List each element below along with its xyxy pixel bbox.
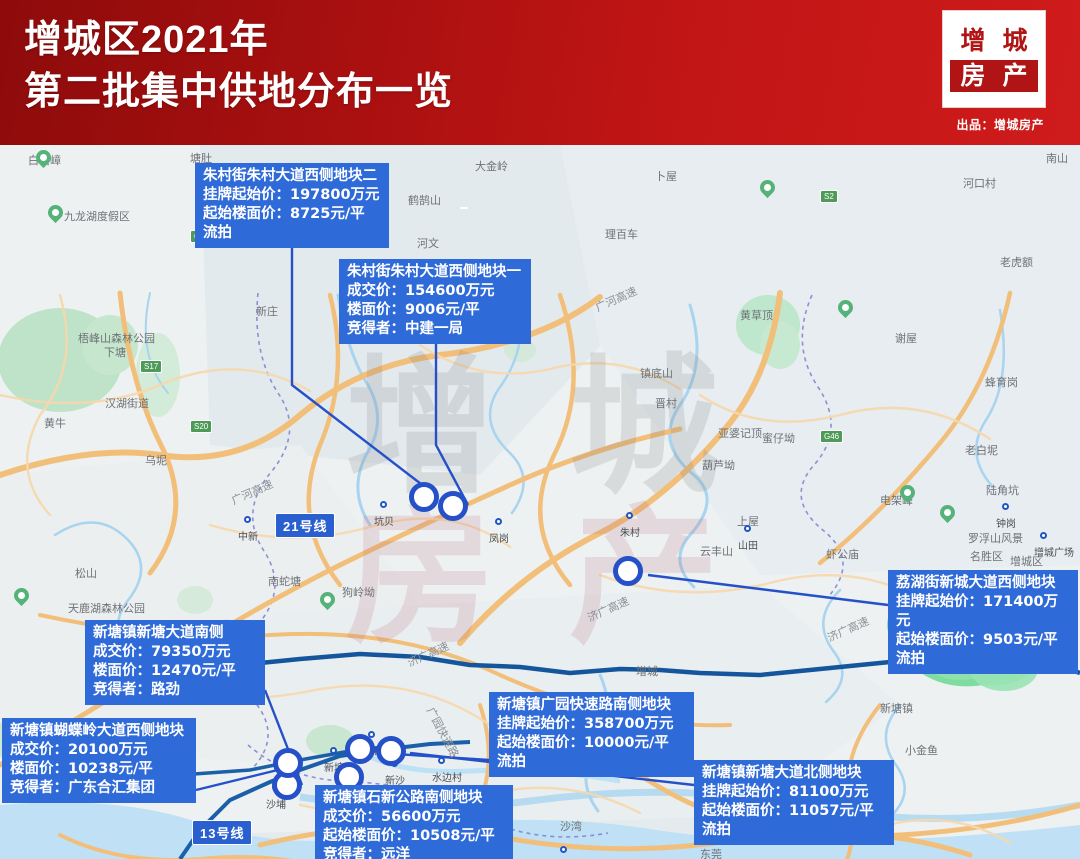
map-place-label: 广河高速 — [593, 283, 640, 316]
metro-station-label: 中新 — [238, 528, 258, 543]
highway-shield: S20 — [190, 420, 212, 433]
plot-detail-line: 流拍 — [702, 821, 886, 840]
plot-callout[interactable]: 新塘镇蝴蝶岭大道西侧地块成交价：20100万元楼面价：10238元/平竞得者：广… — [2, 718, 196, 803]
map-place-label: 松山 — [75, 565, 97, 581]
plot-detail-line: 流拍 — [896, 650, 1070, 669]
plot-title: 新塘镇新塘大道南侧 — [93, 624, 257, 643]
plot-detail-line: 流拍 — [497, 753, 686, 772]
map-place-label: 晋村 — [655, 395, 677, 411]
plot-callout[interactable]: 新塘镇广园快速路南侧地块挂牌起始价：358700万元起始楼面价：10000元/平… — [489, 692, 694, 777]
plot-detail-line: 成交价：20100万元 — [10, 741, 188, 760]
plot-title: 新塘镇广园快速路南侧地块 — [497, 696, 686, 715]
map-poi-pin — [11, 585, 32, 606]
map-place-label: 乌坭 — [145, 452, 167, 468]
highway-shield: G46 — [820, 430, 843, 443]
metro-line-badge: 21号线 — [275, 513, 335, 538]
plot-detail-line: 挂牌起始价：197800万元 — [203, 186, 381, 205]
plot-marker[interactable] — [613, 556, 643, 586]
metro-station-dot — [330, 747, 337, 754]
plot-callout[interactable]: 朱村街朱村大道西侧地块二挂牌起始价：197800万元起始楼面价：8725元/平流… — [195, 163, 389, 248]
map-place-label: 卜屋 — [655, 168, 677, 184]
plot-title: 新塘镇新塘大道北侧地块 — [702, 764, 886, 783]
plot-marker[interactable] — [438, 491, 468, 521]
map-place-label: 汉湖街道 — [105, 395, 149, 411]
plot-detail-line: 起始楼面价：9503元/平 — [896, 631, 1070, 650]
map-place-label: 九龙湖度假区 — [64, 208, 130, 224]
plot-detail-line: 成交价：154600万元 — [347, 282, 523, 301]
map-place-label: 天鹿湖森林公园 — [68, 600, 145, 616]
metro-station-dot — [1040, 532, 1047, 539]
map-place-label: 名胜区 — [970, 548, 1003, 564]
map-place-label: 新塘镇 — [880, 700, 913, 716]
plot-marker[interactable] — [273, 748, 303, 778]
logo-line-1: 增 城 — [956, 26, 1033, 56]
map-place-label: 谢屋 — [895, 330, 917, 346]
metro-station-label: 钟岗 — [996, 515, 1016, 530]
plot-detail-line: 挂牌起始价：81100万元 — [702, 783, 886, 802]
map-place-label: 蜜仔坳 — [762, 430, 795, 446]
map-place-label: 广园快速路 — [423, 704, 463, 760]
map-place-label: 虾公庙 — [826, 546, 859, 562]
map-place-label: 济广高速 — [405, 638, 452, 671]
metro-station-dot — [1002, 503, 1009, 510]
metro-station-dot — [626, 512, 633, 519]
metro-station-label: 朱村 — [620, 524, 640, 539]
map-poi-pin — [937, 502, 958, 523]
plot-detail-line: 起始楼面价：11057元/平 — [702, 802, 886, 821]
metro-station-label: 增城广场 — [1034, 544, 1074, 559]
map-place-label: 陆角坑 — [986, 482, 1019, 498]
map-poi-pin — [835, 297, 856, 318]
map-place-label: 黄草顶 — [740, 307, 773, 323]
map-place-label: 济广高速 — [825, 613, 872, 646]
highway-shield: S17 — [140, 360, 162, 373]
map-annotation-layer: 白石嶂塘肚九龙湖度假区大金岭卜屋南山鹤鹄山河口村老虎额下塘汉湖街道黄牛新庄河文理… — [0, 145, 1080, 859]
plot-title: 新塘镇蝴蝶岭大道西侧地块 — [10, 722, 188, 741]
plot-detail-line: 成交价：56600万元 — [323, 808, 505, 827]
metro-station-dot — [744, 525, 751, 532]
plot-callout[interactable]: 新塘镇新塘大道北侧地块挂牌起始价：81100万元起始楼面价：11057元/平流拍 — [694, 760, 894, 845]
map-place-label: 南山 — [1046, 150, 1068, 166]
brand-logo: 增 城 房 产 — [942, 10, 1046, 108]
plot-detail-line: 竞得者：路劲 — [93, 681, 257, 700]
plot-marker[interactable] — [409, 482, 439, 512]
plot-marker[interactable] — [345, 734, 375, 764]
map-place-label: 鹤鹄山 — [408, 192, 441, 208]
map-poi-pin — [757, 177, 778, 198]
plot-callout[interactable]: 新塘镇石新公路南侧地块成交价：56600万元起始楼面价：10508元/平竞得者：… — [315, 785, 513, 859]
highway-shield: S2 — [820, 190, 838, 203]
metro-station-label: 山田 — [738, 537, 758, 552]
logo-line-2: 房 产 — [950, 60, 1039, 92]
plot-callout[interactable]: 荔湖街新城大道西侧地块挂牌起始价：171400万元起始楼面价：9503元/平流拍 — [888, 570, 1078, 674]
map-place-label: 梧峰山森林公园 — [78, 330, 155, 346]
map-place-label: 下塘 — [104, 344, 126, 360]
map-place-label: 小金鱼 — [905, 742, 938, 758]
plot-detail-line: 起始楼面价：8725元/平 — [203, 205, 381, 224]
plot-title: 新塘镇石新公路南侧地块 — [323, 789, 505, 808]
metro-station-dot — [244, 516, 251, 523]
plot-detail-line: 竞得者：广东合汇集团 — [10, 779, 188, 798]
map-place-label: 老白坭 — [965, 442, 998, 458]
map-place-label: 南蛇塘 — [268, 573, 301, 589]
plot-detail-line: 楼面价：10238元/平 — [10, 760, 188, 779]
logo-caption: 出品：增城房产 — [956, 116, 1044, 133]
map-poi-pin — [45, 202, 66, 223]
plot-title: 朱村街朱村大道西侧地块一 — [347, 263, 523, 282]
map-place-label: 沙湾 — [560, 818, 582, 834]
plot-callout[interactable]: 新塘镇新塘大道南侧成交价：79350万元楼面价：12470元/平竞得者：路劲 — [85, 620, 265, 705]
metro-station-label: 水边村 — [432, 769, 462, 784]
plot-detail-line: 流拍 — [203, 224, 381, 243]
map-poi-pin — [317, 589, 338, 610]
infographic-page: 增城区2021年 第二批集中供地分布一览 增 城 房 产 出品：增城房产 — [0, 0, 1080, 859]
map-place-label: 葫芦坳 — [702, 457, 735, 473]
plot-detail-line: 起始楼面价：10508元/平 — [323, 827, 505, 846]
map-place-label: 河口村 — [963, 175, 996, 191]
metro-line-badge: 13号线 — [192, 820, 252, 845]
map-place-label: 新庄 — [256, 303, 278, 319]
metro-station-label: 凤岗 — [489, 530, 509, 545]
map-place-label: 老虎额 — [1000, 254, 1033, 270]
plot-detail-line: 竞得者：远洋 — [323, 846, 505, 859]
plot-detail-line: 成交价：79350万元 — [93, 643, 257, 662]
metro-station-dot — [438, 757, 445, 764]
map-place-label: 云丰山 — [700, 543, 733, 559]
metro-station-label: 坑贝 — [374, 513, 394, 528]
metro-station-dot — [495, 518, 502, 525]
page-title: 增城区2021年 第二批集中供地分布一览 — [24, 14, 453, 118]
map-place-label: 广河高速 — [229, 476, 276, 509]
map-place-label: 济广高速 — [585, 593, 632, 626]
plot-title: 朱村街朱村大道西侧地块二 — [203, 167, 381, 186]
plot-title: 荔湖街新城大道西侧地块 — [896, 574, 1070, 593]
plot-detail-line: 楼面价：9006元/平 — [347, 301, 523, 320]
map-place-label: 罗浮山风景 — [968, 530, 1023, 546]
map-place-label: 蜂育岗 — [985, 374, 1018, 390]
map-place-label: 河文 — [417, 235, 439, 251]
metro-station-dot — [560, 846, 567, 853]
plot-marker[interactable] — [376, 736, 406, 766]
plot-detail-line: 楼面价：12470元/平 — [93, 662, 257, 681]
header-banner: 增城区2021年 第二批集中供地分布一览 增 城 房 产 出品：增城房产 — [0, 0, 1080, 145]
map-canvas[interactable]: 增 城 房 产 白石嶂塘肚九龙湖度假区大金岭卜屋南山鹤鹄山河口村老虎额下塘汉湖街… — [0, 145, 1080, 859]
map-place-label: 大金岭 — [475, 158, 508, 174]
map-place-label: 亚婆记顶 — [718, 425, 762, 441]
map-place-label: 黄牛 — [44, 415, 66, 431]
map-place-label: 狗岭坳 — [342, 584, 375, 600]
plot-detail-line: 挂牌起始价：171400万元 — [896, 593, 1070, 631]
plot-detail-line: 竞得者：中建一局 — [347, 320, 523, 339]
map-place-label: 东莞 — [700, 846, 722, 859]
map-place-label: 增城 — [636, 663, 658, 679]
metro-station-dot — [380, 501, 387, 508]
plot-callout[interactable]: 朱村街朱村大道西侧地块一成交价：154600万元楼面价：9006元/平竞得者：中… — [339, 259, 531, 344]
map-place-label: 理百车 — [605, 226, 638, 242]
highway-shield — [460, 207, 468, 209]
map-place-label: 镇底山 — [640, 365, 673, 381]
plot-detail-line: 起始楼面价：10000元/平 — [497, 734, 686, 753]
plot-detail-line: 挂牌起始价：358700万元 — [497, 715, 686, 734]
